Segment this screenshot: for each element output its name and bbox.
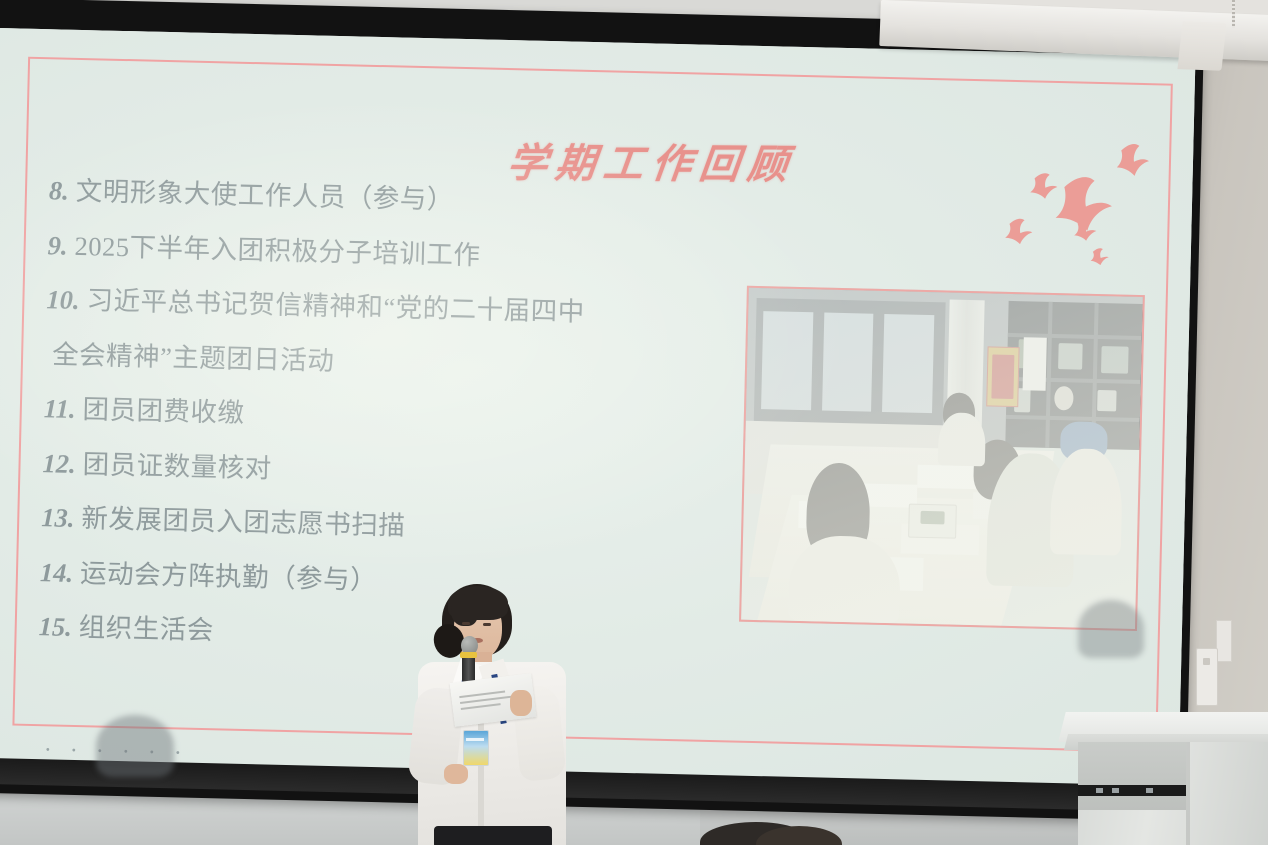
list-item: 12. 团员证数量核对 — [42, 450, 742, 493]
list-item-text: 新发展团员入团志愿书扫描 — [81, 505, 406, 539]
projector-screen-surface: 学期工作回顾 8. 文明形象大使工作 — [0, 28, 1195, 801]
lectern-edge — [1186, 742, 1190, 845]
list-item-number: 11. — [44, 395, 76, 422]
slide-photo-content — [741, 288, 1143, 629]
lectern-shelf — [1078, 742, 1186, 810]
microphone-band — [460, 652, 477, 658]
list-item-number: 14. — [40, 559, 74, 586]
list-item: 15. 组织生活会 — [38, 613, 738, 656]
projector-screen-housing-cap — [1177, 21, 1226, 71]
list-item: 10. 习近平总书记贺信精神和“党的二十届四中 — [46, 286, 746, 329]
list-item: 13. 新发展团员入团志愿书扫描 — [41, 504, 741, 547]
slide-title: 学期工作回顾 — [505, 131, 799, 191]
screenshot-stage: 学期工作回顾 8. 文明形象大使工作 — [0, 0, 1268, 845]
lectern-drawer-rail — [1078, 785, 1186, 796]
list-item-continuation: 全会精神”主题团日活动 — [45, 341, 745, 384]
presenter-id-badge-text — [466, 738, 484, 741]
list-item-text: 运动会方阵执勤（参与） — [80, 560, 378, 593]
wall-outlet-plate — [1196, 648, 1218, 706]
list-item-text: 2025下半年入团积极分子培训工作 — [74, 232, 481, 268]
list-item: 11. 团员团费收缴 — [44, 395, 744, 438]
presenter-trousers — [434, 826, 552, 845]
list-item: 14. 运动会方阵执勤（参与） — [40, 559, 740, 602]
presenter-figure — [398, 578, 584, 845]
list-item-number: 12. — [42, 450, 76, 477]
flying-birds-icon — [1000, 138, 1183, 292]
lectern-rail-dot — [1112, 788, 1119, 793]
presenter-hand-right — [510, 690, 532, 716]
slide-bullet-list: 8. 文明形象大使工作人员（参与） 9. 2025下半年入团积极分子培训工作 1… — [38, 177, 749, 684]
list-item-text: 文明形象大使工作人员（参与） — [76, 178, 455, 213]
lectern-rail-dot — [1146, 788, 1153, 793]
hanging-chain — [1232, 0, 1235, 28]
wall-plate-upper — [1216, 620, 1232, 662]
presenter-hand-left — [444, 764, 468, 784]
list-item-text: 团员团费收缴 — [82, 396, 245, 426]
list-item-text: 全会精神”主题团日活动 — [52, 341, 335, 374]
projector-screen-bezel: 学期工作回顾 8. 文明形象大使工作 — [0, 0, 1204, 821]
list-item-text: 组织生活会 — [79, 614, 215, 644]
list-item-number: 15. — [38, 613, 72, 640]
slide-canvas: 学期工作回顾 8. 文明形象大使工作 — [0, 28, 1195, 801]
wall-outlet-socket — [1203, 658, 1210, 665]
list-item-number: 8. — [49, 177, 69, 204]
list-item-number: 13. — [41, 504, 75, 531]
audience-shadow-left — [96, 715, 174, 777]
list-item-text: 团员证数量核对 — [82, 451, 272, 482]
audience-shadow-right — [1078, 600, 1144, 658]
slide-photo — [739, 286, 1145, 631]
list-item-number: 10. — [46, 286, 80, 313]
list-item-text: 习近平总书记贺信精神和“党的二十届四中 — [86, 287, 585, 325]
presenter-id-badge — [463, 730, 489, 766]
presenter-eye-right — [483, 623, 491, 626]
lectern-rail-dot — [1096, 788, 1103, 793]
list-item-number: 9. — [47, 232, 67, 259]
list-item: 9. 2025下半年入团积极分子培训工作 — [47, 232, 747, 275]
presenter-eye-left — [462, 622, 470, 625]
